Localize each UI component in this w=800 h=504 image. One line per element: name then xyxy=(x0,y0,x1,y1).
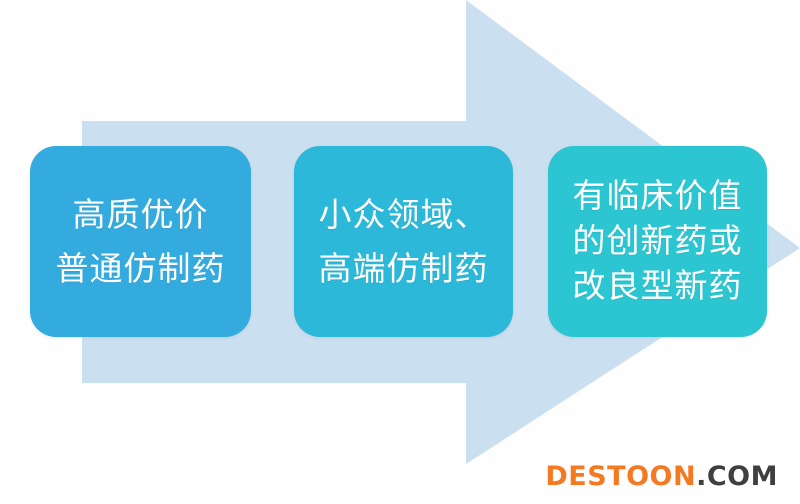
diagram-canvas: 高质优价 普通仿制药 小众领域、 高端仿制药 有临床价值 的创新药或 改良型新药… xyxy=(0,0,800,504)
stage-box-3[interactable]: 有临床价值 的创新药或 改良型新药 xyxy=(548,146,767,337)
watermark-brand: DESTOON xyxy=(545,461,696,492)
stage-1-line-1: 高质优价 xyxy=(73,188,209,241)
stage-3-line-1: 有临床价值 xyxy=(573,174,743,219)
stage-3-line-2: 的创新药或 xyxy=(573,219,743,264)
watermark: DESTOON.COM xyxy=(545,461,778,492)
stage-3-line-3: 改良型新药 xyxy=(573,264,743,309)
stage-1-line-2: 普通仿制药 xyxy=(56,242,226,295)
stage-box-1[interactable]: 高质优价 普通仿制药 xyxy=(30,146,251,337)
stage-2-line-2: 高端仿制药 xyxy=(319,242,489,295)
stage-box-2[interactable]: 小众领域、 高端仿制药 xyxy=(294,146,513,337)
stage-2-line-1: 小众领域、 xyxy=(319,188,489,241)
watermark-tld: .COM xyxy=(696,461,778,492)
